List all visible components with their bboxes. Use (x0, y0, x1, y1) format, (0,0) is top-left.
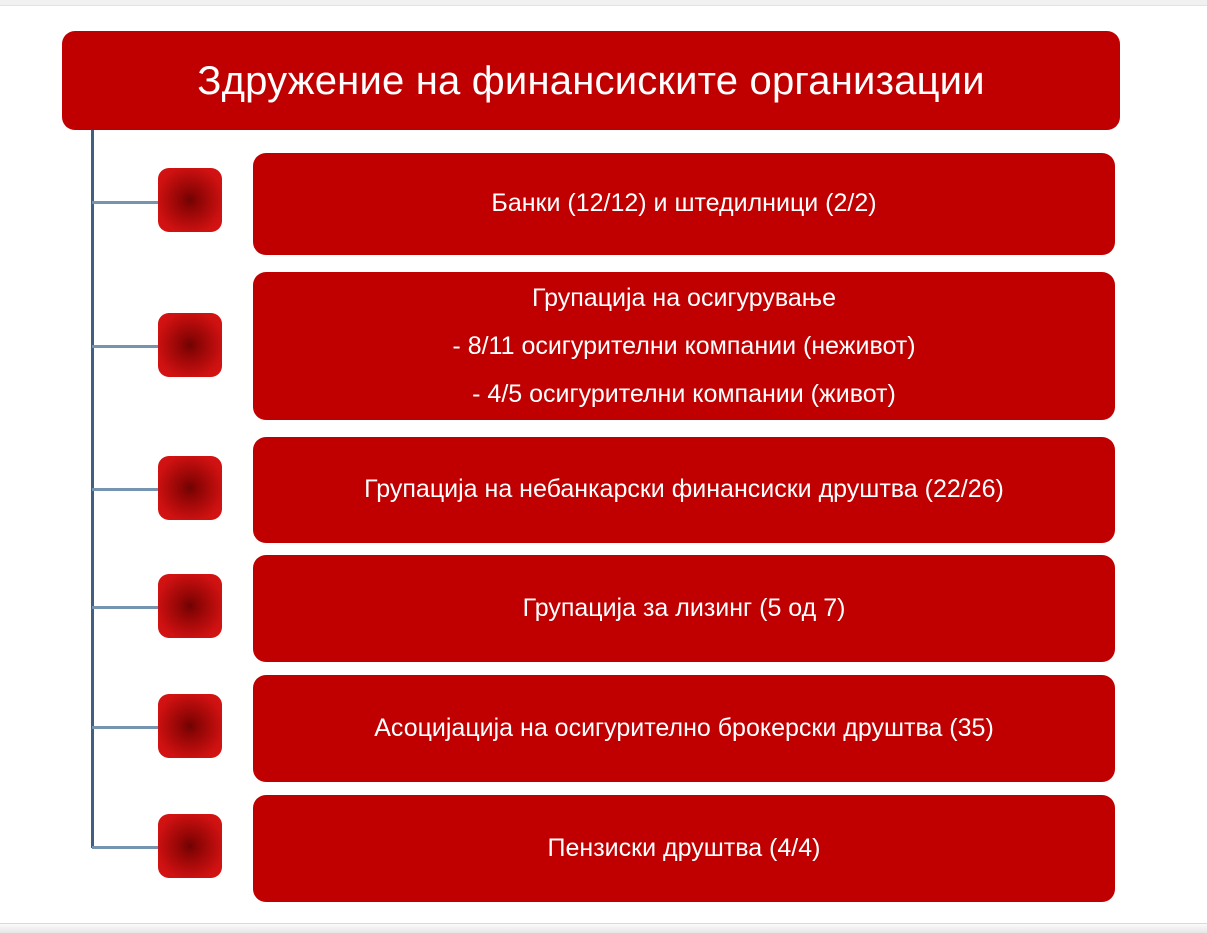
item-label-insurance-group-line-2: - 8/11 осигурителни компании (неживот) (452, 322, 915, 370)
item-label-nonbank-financial-companies-line-1: Групација на небанкарски финансиски друш… (364, 468, 1004, 512)
node-marker-pension-companies (158, 814, 222, 878)
item-label-pension-companies-line-1: Пензиски друштва (4/4) (548, 827, 821, 871)
diagram-title-box: Здружение на финансиските организации (62, 31, 1120, 130)
connector-trunk-line (91, 130, 94, 848)
node-marker-nonbank-financial-companies (158, 456, 222, 520)
node-marker-insurance-group (158, 313, 222, 377)
item-box-pension-companies[interactable]: Пензиски друштва (4/4) (253, 795, 1115, 902)
slide-top-edge (0, 0, 1207, 6)
item-label-banks-line-1: Банки (12/12) и штедилници (2/2) (491, 182, 876, 226)
slide-canvas: Здружение на финансиските организации Ба… (0, 0, 1207, 933)
item-box-nonbank-financial-companies[interactable]: Групација на небанкарски финансиски друш… (253, 437, 1115, 543)
item-box-leasing-group[interactable]: Групација за лизинг (5 од 7) (253, 555, 1115, 662)
item-box-insurance-brokers-association[interactable]: Асоцијација на осигурително брокерски др… (253, 675, 1115, 782)
slide-bottom-edge (0, 923, 1207, 933)
item-box-insurance-group[interactable]: Групација на осигурување - 8/11 осигурит… (253, 272, 1115, 420)
item-label-insurance-group-line-3: - 4/5 осигурителни компании (живот) (472, 370, 896, 418)
item-label-insurance-group-line-1: Групација на осигурување (532, 274, 836, 322)
item-label-leasing-group-line-1: Групација за лизинг (5 од 7) (523, 587, 846, 631)
item-label-insurance-brokers-association-line-1: Асоцијација на осигурително брокерски др… (374, 707, 994, 751)
diagram-title-text: Здружение на финансиските организации (197, 58, 985, 104)
item-box-banks[interactable]: Банки (12/12) и штедилници (2/2) (253, 153, 1115, 255)
node-marker-banks (158, 168, 222, 232)
node-marker-insurance-brokers-association (158, 694, 222, 758)
node-marker-leasing-group (158, 574, 222, 638)
